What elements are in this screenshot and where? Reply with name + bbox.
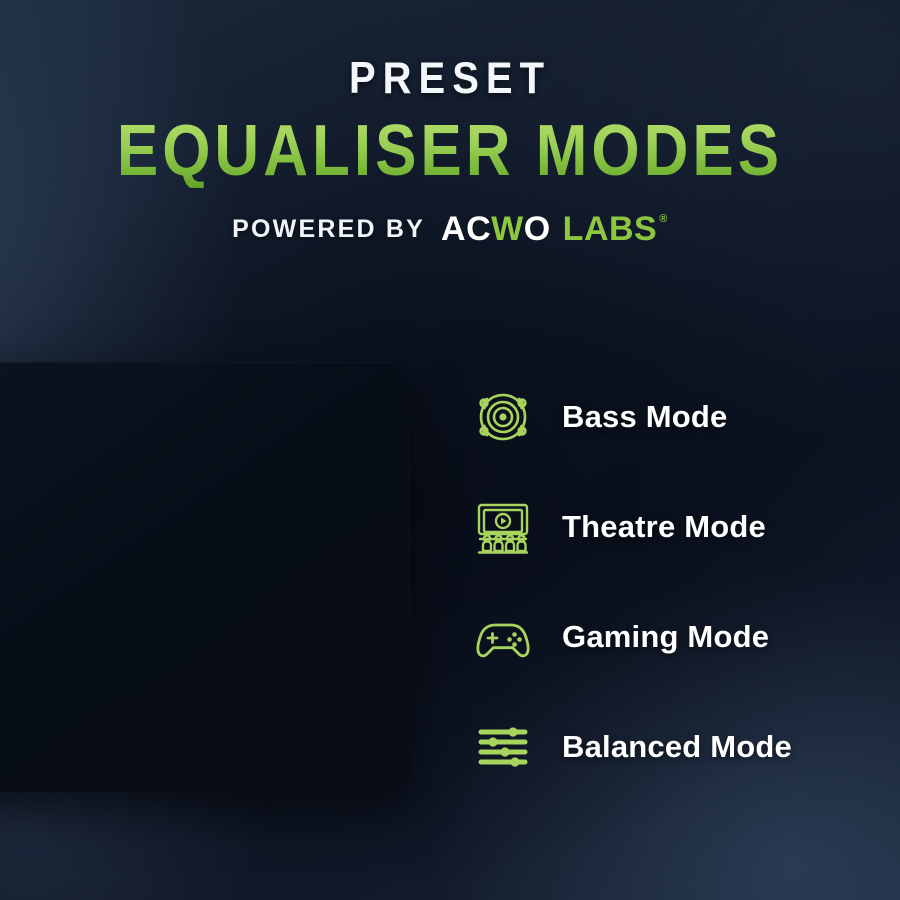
page-title-preset: PRESET (0, 56, 900, 101)
mode-label-gaming: Gaming Mode (562, 619, 769, 655)
mode-row-bass[interactable]: Bass Mode (470, 362, 890, 472)
mode-label-balanced: Balanced Mode (562, 729, 792, 765)
logo-part-o: O (524, 212, 551, 246)
equalizer-panel (0, 362, 410, 792)
header: PRESET EQUALISER MODES POWERED BY AC W O… (0, 0, 900, 246)
mode-row-gaming[interactable]: Gaming Mode (470, 582, 890, 692)
mode-label-bass: Bass Mode (562, 399, 727, 435)
mode-row-balanced[interactable]: Balanced Mode (470, 692, 890, 802)
logo-part-labs: LABS (563, 212, 658, 246)
acwo-labs-logo: AC W O LABS ® (441, 212, 668, 246)
subwoofer-speaker-icon (470, 384, 536, 450)
equalizer-sliders-icon (470, 714, 536, 780)
mode-label-theatre: Theatre Mode (562, 509, 766, 545)
registered-trademark-icon: ® (659, 214, 668, 225)
powered-by-label: POWERED BY (232, 215, 425, 244)
logo-part-ac: AC (441, 212, 491, 246)
powered-by-row: POWERED BY AC W O LABS ® (0, 212, 900, 246)
poster-canvas: PRESET EQUALISER MODES POWERED BY AC W O… (0, 0, 900, 900)
mode-row-theatre[interactable]: Theatre Mode (470, 472, 890, 582)
page-title-equaliser-modes: EQUALISER MODES (0, 116, 900, 188)
cinema-screen-audience-icon (470, 494, 536, 560)
gamepad-icon (470, 604, 536, 670)
modes-list: Bass Mode (470, 362, 890, 802)
logo-part-w: W (491, 212, 524, 246)
